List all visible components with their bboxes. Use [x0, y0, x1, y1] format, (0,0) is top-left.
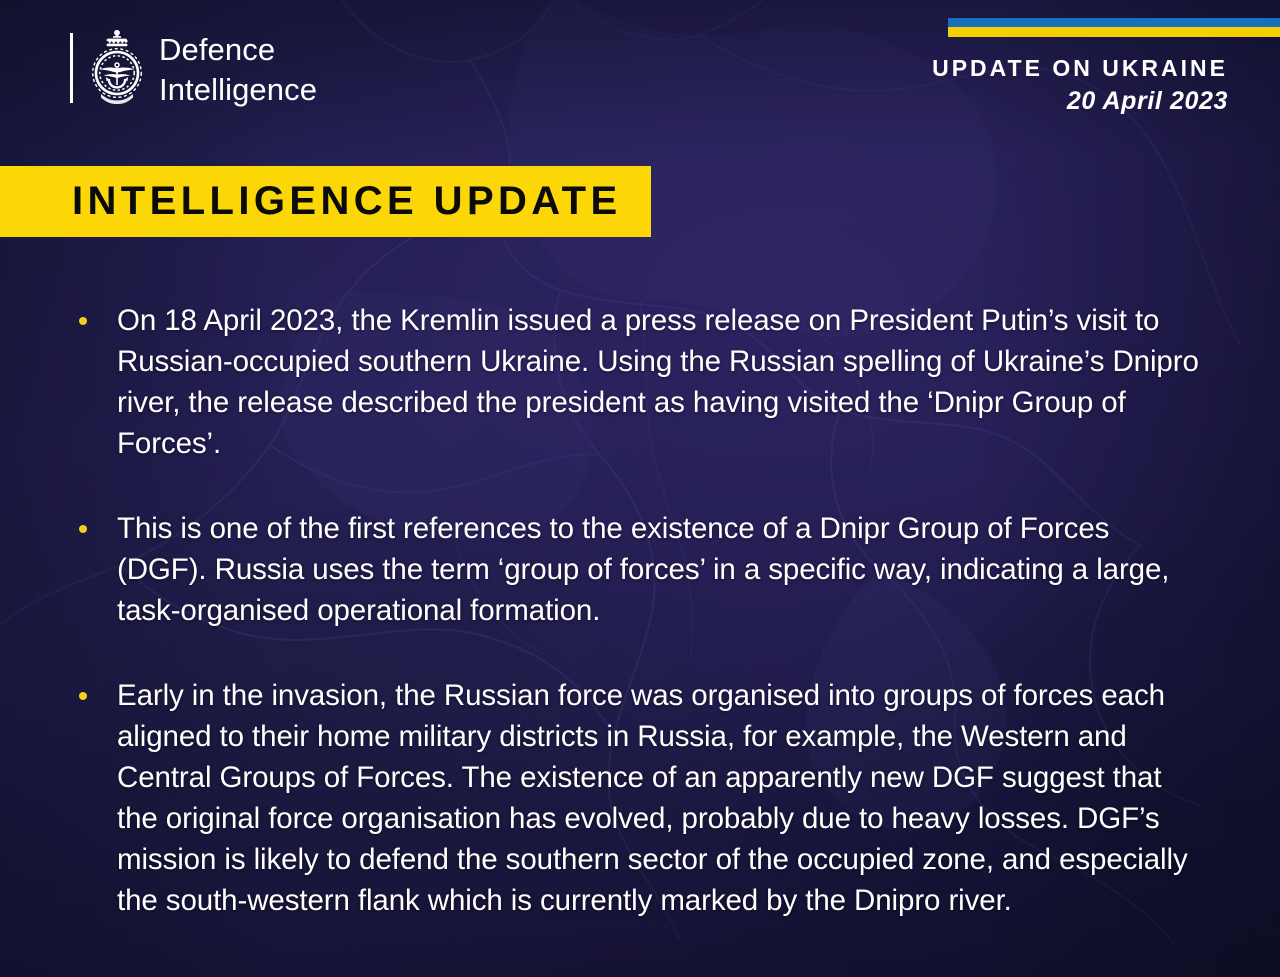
brand-name-line2: Intelligence	[159, 70, 317, 110]
bullet-dot-icon	[79, 692, 87, 700]
list-item: On 18 April 2023, the Kremlin issued a p…	[74, 300, 1204, 464]
bullet-text: On 18 April 2023, the Kremlin issued a p…	[117, 304, 1199, 460]
update-date: 20 April 2023	[932, 85, 1228, 118]
bullet-dot-icon	[79, 525, 87, 533]
bullet-text: Early in the invasion, the Russian force…	[117, 679, 1188, 917]
intelligence-update-graphic: Defence Intelligence UPDATE ON UKRAINE 2…	[0, 0, 1280, 977]
brand-name: Defence Intelligence	[159, 28, 317, 109]
intelligence-update-banner: INTELLIGENCE UPDATE	[0, 166, 651, 237]
ukraine-flag-bar	[948, 18, 1280, 37]
flag-yellow-band	[948, 27, 1280, 37]
bullet-list: On 18 April 2023, the Kremlin issued a p…	[74, 300, 1204, 921]
bullet-dot-icon	[79, 317, 87, 325]
flag-blue-band	[948, 18, 1280, 27]
list-item: This is one of the first references to t…	[74, 508, 1204, 631]
brand-divider-rule	[70, 33, 73, 103]
banner-title: INTELLIGENCE UPDATE	[0, 179, 622, 224]
mod-crest-icon	[89, 28, 145, 106]
brand-name-line1: Defence	[159, 30, 317, 70]
brand-lockup: Defence Intelligence	[70, 28, 317, 109]
update-label: UPDATE ON UKRAINE	[932, 55, 1228, 82]
bullet-text: This is one of the first references to t…	[117, 512, 1169, 627]
update-heading-block: UPDATE ON UKRAINE 20 April 2023	[932, 55, 1228, 118]
list-item: Early in the invasion, the Russian force…	[74, 675, 1204, 921]
